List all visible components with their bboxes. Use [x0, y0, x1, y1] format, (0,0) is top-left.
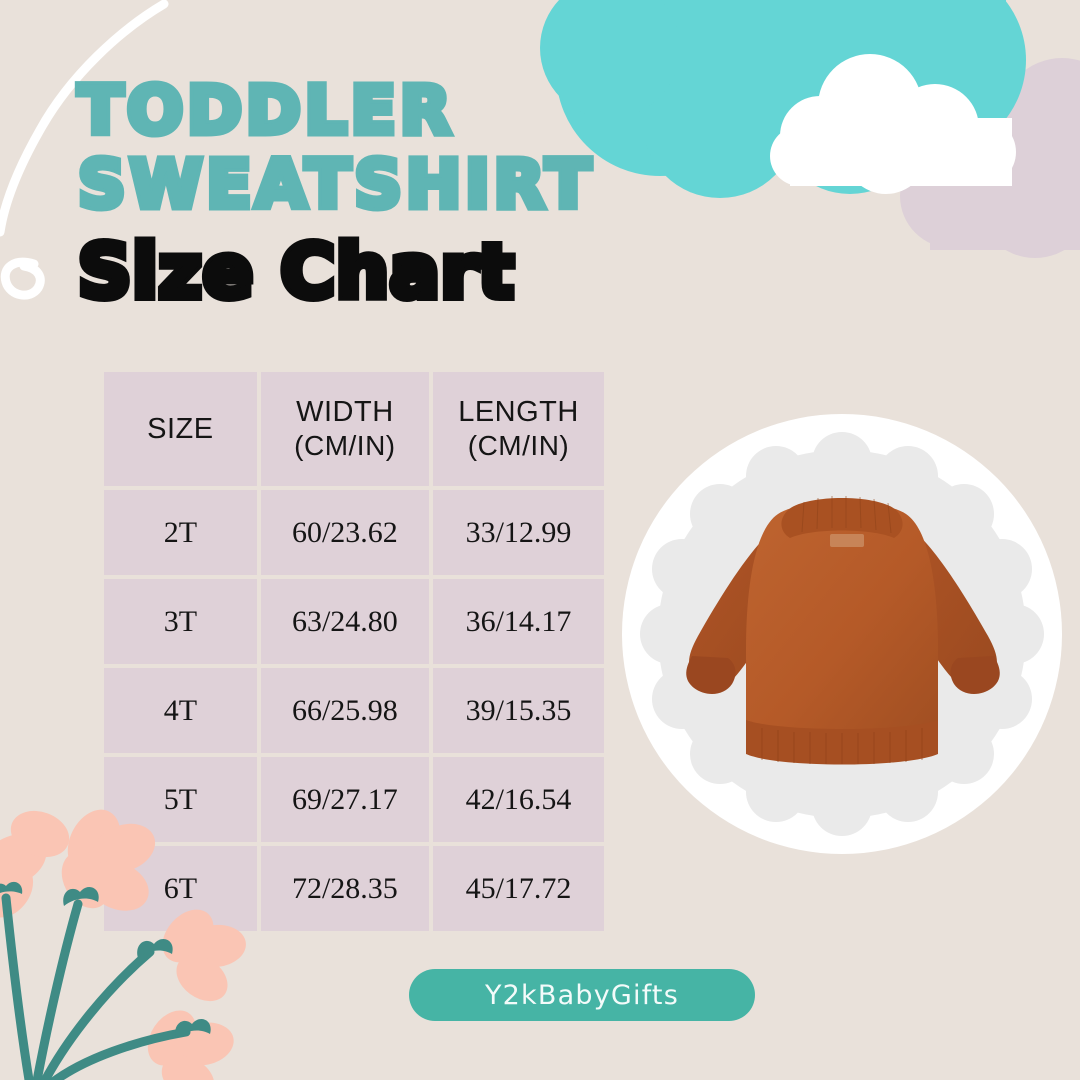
cell-length: 33/12.99 [433, 490, 604, 575]
cell-width: 72/28.35 [261, 846, 429, 931]
sweatshirt-left-cuff [686, 656, 735, 694]
size-chart-table: SIZE WIDTH (CM/IN) LENGTH (CM/IN) 2T 60/… [100, 368, 608, 935]
flower-stem-4 [48, 1032, 186, 1080]
table-header-size: SIZE [104, 372, 257, 486]
sweatshirt-neck-tag [830, 534, 864, 547]
table-row: 3T 63/24.80 36/14.17 [104, 579, 604, 664]
cell-length: 45/17.72 [433, 846, 604, 931]
flower-stem-3 [42, 952, 150, 1080]
sweatshirt-illustration-icon [666, 480, 1018, 790]
cell-size: 5T [104, 757, 257, 842]
cell-length: 42/16.54 [433, 757, 604, 842]
table-row: 4T 66/25.98 39/15.35 [104, 668, 604, 753]
cloud-mauve-icon [900, 58, 1080, 258]
sweatshirt-right-cuff [951, 656, 1000, 694]
cell-size: 2T [104, 490, 257, 575]
cell-size: 4T [104, 668, 257, 753]
cell-length: 39/15.35 [433, 668, 604, 753]
table-header-width-units: (CM/IN) [261, 429, 429, 463]
product-photo-image [658, 450, 1026, 818]
flower-calyx-3 [137, 939, 172, 958]
flower-blossom-1 [0, 803, 76, 927]
flower-stem-2 [36, 904, 78, 1080]
title-line-size-chart: Size Chart [78, 230, 738, 314]
product-photo-frame [622, 414, 1062, 854]
page-title: TODDLER SWEATSHIRT Size Chart [78, 74, 738, 314]
cell-width: 60/23.62 [261, 490, 429, 575]
table-header-length-label: LENGTH [458, 396, 579, 428]
table-header-width: WIDTH (CM/IN) [261, 372, 429, 486]
cell-width: 69/27.17 [261, 757, 429, 842]
table-header-length-units: (CM/IN) [433, 429, 604, 463]
size-chart-graphic: TODDLER SWEATSHIRT Size Chart SIZE WIDTH… [0, 0, 1080, 1080]
table-header-width-label: WIDTH [296, 396, 394, 428]
squiggle-loop-icon [5, 262, 40, 295]
cell-length: 36/14.17 [433, 579, 604, 664]
title-line-toddler: TODDLER [78, 74, 738, 148]
cell-size: 6T [104, 846, 257, 931]
flower-calyx-1 [0, 882, 22, 898]
flower-blossom-4 [138, 1001, 238, 1080]
table-header-row: SIZE WIDTH (CM/IN) LENGTH (CM/IN) [104, 372, 604, 486]
cloud-white-icon [770, 54, 1016, 194]
table-header-length: LENGTH (CM/IN) [433, 372, 604, 486]
cell-width: 63/24.80 [261, 579, 429, 664]
table-header-size-label: SIZE [147, 413, 213, 445]
table-row: 2T 60/23.62 33/12.99 [104, 490, 604, 575]
flower-calyx-2 [63, 887, 98, 906]
cell-size: 3T [104, 579, 257, 664]
title-line-sweatshirt: SWEATSHIRT [78, 148, 738, 222]
cell-width: 66/25.98 [261, 668, 429, 753]
flower-stem-1 [6, 898, 30, 1080]
brand-badge[interactable]: Y2kBabyGifts [409, 969, 755, 1021]
brand-badge-label: Y2kBabyGifts [485, 980, 679, 1011]
table-row: 5T 69/27.17 42/16.54 [104, 757, 604, 842]
table-row: 6T 72/28.35 45/17.72 [104, 846, 604, 931]
flower-calyx-4 [175, 1019, 210, 1038]
